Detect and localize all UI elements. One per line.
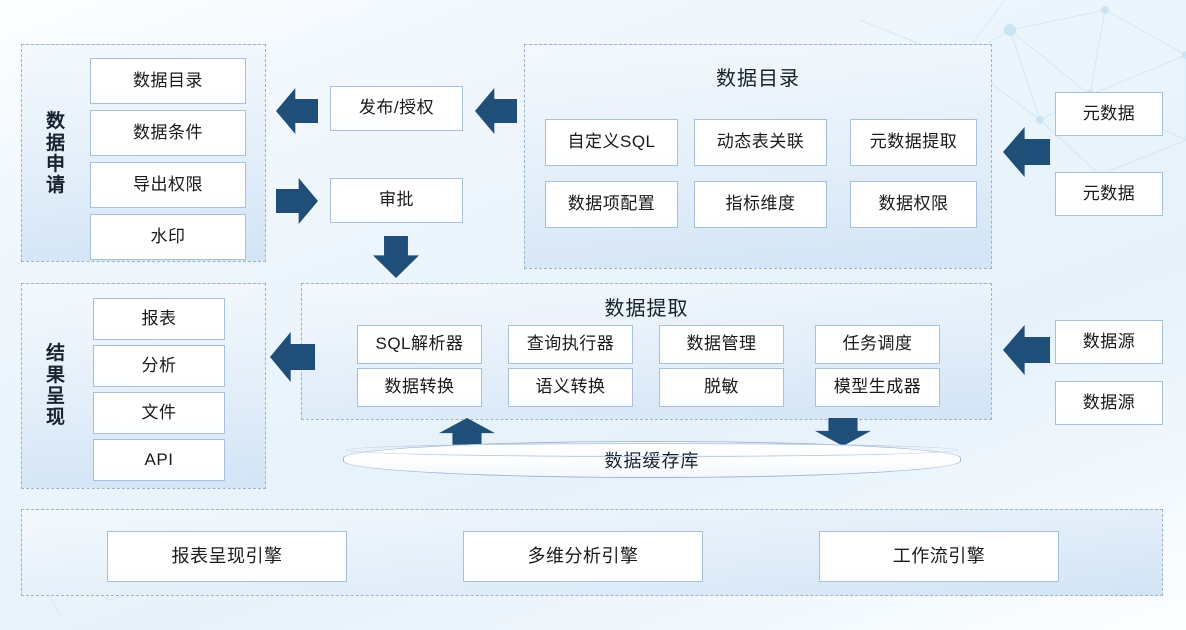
extract-item-task-scheduling[interactable]: 任务调度 (815, 325, 940, 364)
catalog-item-data-item-config[interactable]: 数据项配置 (545, 181, 678, 228)
extract-item-desensitization[interactable]: 脱敏 (659, 368, 784, 407)
metadata-box-2[interactable]: 元数据 (1055, 172, 1163, 216)
catalog-item-data-permission[interactable]: 数据权限 (850, 181, 977, 228)
data-extraction-group-heading: 数据提取 (301, 292, 992, 321)
result-label-char: 呈 (46, 386, 66, 407)
arrow-cache-to-extract-icon (439, 418, 495, 446)
apply-item-watermark[interactable]: 水印 (90, 214, 246, 260)
extract-item-query-executor[interactable]: 查询执行器 (508, 325, 633, 364)
data-apply-label-char: 请 (46, 175, 66, 196)
diagram-canvas: 数 据 申 请 数据目录 数据条件 导出权限 水印 结 果 呈 现 报表 分析 … (0, 0, 1186, 630)
catalog-item-metric-dimension[interactable]: 指标维度 (694, 181, 827, 228)
data-cache-store[interactable]: 数据缓存库 (343, 441, 961, 478)
result-label-char: 果 (46, 365, 66, 386)
catalog-item-metadata-extraction[interactable]: 元数据提取 (850, 119, 977, 166)
approve-box[interactable]: 审批 (330, 178, 463, 223)
data-cache-store-label: 数据缓存库 (605, 447, 700, 473)
extract-item-model-generator[interactable]: 模型生成器 (815, 368, 940, 407)
metadata-box-1[interactable]: 元数据 (1055, 92, 1163, 136)
catalog-item-dynamic-table-relation[interactable]: 动态表关联 (694, 119, 827, 166)
result-item-api[interactable]: API (93, 439, 225, 481)
result-label-char: 现 (46, 407, 66, 428)
extract-item-sql-parser[interactable]: SQL解析器 (357, 325, 482, 364)
result-presentation-group-label: 结 果 呈 现 (30, 294, 82, 478)
result-item-file[interactable]: 文件 (93, 392, 225, 434)
arrow-approve-to-extract-icon (373, 236, 419, 278)
engine-workflow[interactable]: 工作流引擎 (819, 531, 1059, 582)
data-apply-label-char: 数 (46, 111, 66, 132)
apply-item-export-permission[interactable]: 导出权限 (90, 162, 246, 208)
data-apply-label-char: 申 (46, 154, 66, 175)
result-item-analysis[interactable]: 分析 (93, 345, 225, 387)
result-item-report[interactable]: 报表 (93, 298, 225, 340)
data-catalog-group-heading: 数据目录 (524, 62, 992, 91)
arrow-extract-to-cache-icon (815, 418, 871, 446)
arrow-apply-to-approve-icon (276, 178, 318, 224)
arrow-metadata-to-catalog-icon (1003, 127, 1050, 177)
publish-authorize-box[interactable]: 发布/授权 (330, 86, 463, 131)
arrow-datasource-to-extract-icon (1003, 325, 1050, 375)
data-apply-label-char: 据 (46, 133, 66, 154)
datasource-box-1[interactable]: 数据源 (1055, 320, 1163, 364)
apply-item-data-catalog[interactable]: 数据目录 (90, 58, 246, 104)
extract-item-semantic-transform[interactable]: 语义转换 (508, 368, 633, 407)
extract-item-data-transform[interactable]: 数据转换 (357, 368, 482, 407)
arrow-catalog-to-publish-icon (475, 88, 517, 134)
engine-multidimensional-analysis[interactable]: 多维分析引擎 (463, 531, 703, 582)
catalog-item-custom-sql[interactable]: 自定义SQL (545, 119, 678, 166)
data-apply-group-label: 数 据 申 请 (30, 56, 82, 252)
apply-item-data-condition[interactable]: 数据条件 (90, 110, 246, 156)
extract-item-data-management[interactable]: 数据管理 (659, 325, 784, 364)
engine-report-rendering[interactable]: 报表呈现引擎 (107, 531, 347, 582)
result-label-char: 结 (46, 343, 66, 364)
arrow-publish-to-apply-icon (276, 88, 318, 134)
datasource-box-2[interactable]: 数据源 (1055, 381, 1163, 425)
